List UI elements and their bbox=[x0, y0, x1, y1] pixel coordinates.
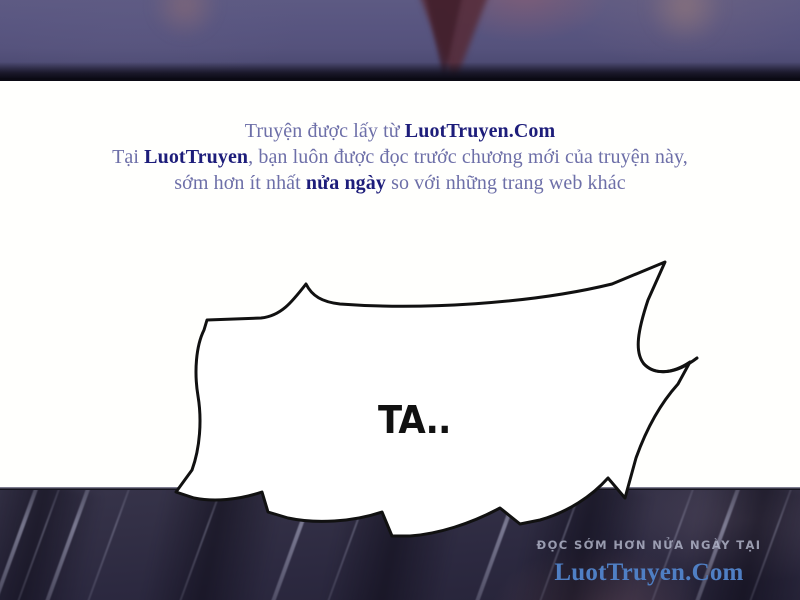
credit-text-block: Truyện được lấy từ LuotTruyen.Com Tại Lu… bbox=[0, 118, 800, 196]
credit-line-1: Truyện được lấy từ LuotTruyen.Com bbox=[0, 118, 800, 144]
credit-line-2-brand: LuotTruyen bbox=[144, 146, 248, 168]
credit-line-2: Tại LuotTruyen, bạn luôn được đọc trước … bbox=[0, 144, 800, 170]
bottom-art-dark-column bbox=[505, 490, 656, 600]
credit-line-3: sớm hơn ít nhất nửa ngày so với những tr… bbox=[0, 170, 800, 196]
bottom-art-dark-column bbox=[135, 490, 286, 600]
top-artwork-band bbox=[0, 0, 800, 78]
comic-page: Truyện được lấy từ LuotTruyen.Com Tại Lu… bbox=[0, 0, 800, 600]
top-art-right-glow bbox=[640, 0, 730, 40]
credit-line-2-prefix: Tại bbox=[112, 146, 144, 168]
credit-line-3-emphasis: nửa ngày bbox=[306, 172, 386, 194]
credit-line-2-suffix: , bạn luôn được đọc trước chương mới của… bbox=[248, 146, 688, 168]
credit-line-3-prefix: sớm hơn ít nhất bbox=[174, 172, 306, 194]
top-art-left-glow bbox=[150, 0, 220, 40]
bottom-art-dark-column bbox=[315, 490, 466, 600]
bottom-artwork-band bbox=[0, 490, 800, 600]
top-art-base-shadow bbox=[0, 62, 800, 78]
credit-line-1-brand: LuotTruyen.Com bbox=[405, 120, 555, 142]
credit-line-1-prefix: Truyện được lấy từ bbox=[245, 120, 405, 142]
bottom-art-dark-column bbox=[675, 490, 800, 600]
credit-line-3-suffix: so với những trang web khác bbox=[386, 172, 626, 194]
